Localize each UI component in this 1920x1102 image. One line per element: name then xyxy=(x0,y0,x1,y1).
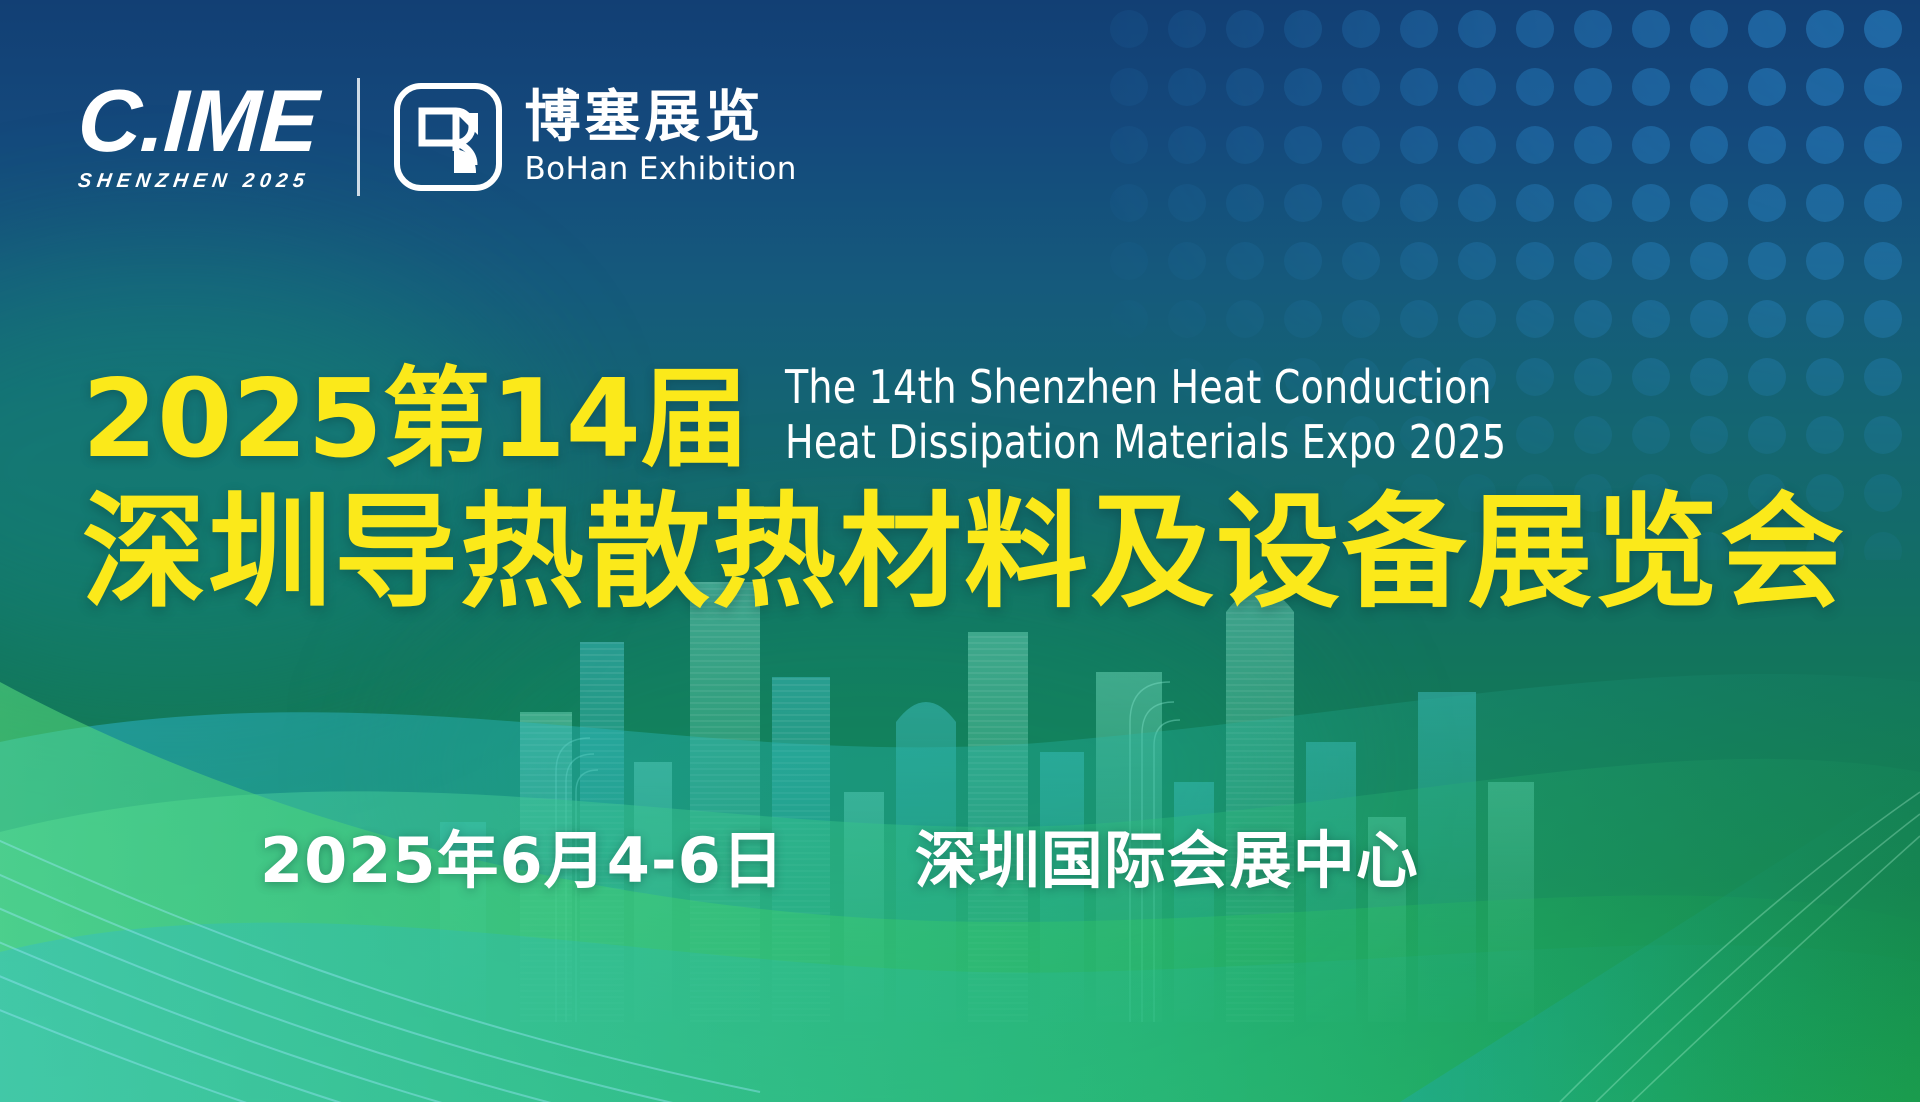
english-title-line2: Heat Dissipation Materials Expo 2025 xyxy=(785,415,1506,470)
logo-bar: C.IME SHENZHEN 2025 博塞展览 BoHan Exhibitio… xyxy=(78,78,797,196)
bohan-chinese-name: 博塞展览 xyxy=(524,90,764,146)
cime-logo[interactable]: C.IME SHENZHEN 2025 xyxy=(78,81,317,193)
event-date: 2025年6月4-6日 xyxy=(260,830,785,892)
event-venue: 深圳国际会展中心 xyxy=(915,830,1419,892)
cime-wordmark: C.IME xyxy=(76,81,320,162)
bohan-english-name: BoHan Exhibition xyxy=(524,154,796,185)
english-title-block: The 14th Shenzhen Heat Conduction Heat D… xyxy=(785,360,1569,474)
footer-info: 2025年6月4-6日 深圳国际会展中心 xyxy=(260,830,1419,892)
logo-divider xyxy=(357,78,360,196)
headline-block: 2025第14届 The 14th Shenzhen Heat Conducti… xyxy=(0,360,1920,619)
english-title-line1: The 14th Shenzhen Heat Conduction xyxy=(785,360,1506,415)
edition-title-cn: 2025第14届 xyxy=(82,366,749,474)
bohan-square-mark-icon xyxy=(394,83,502,191)
headline-row-primary: 2025第14届 The 14th Shenzhen Heat Conducti… xyxy=(0,360,1920,474)
bohan-logo[interactable]: 博塞展览 BoHan Exhibition xyxy=(394,83,796,191)
bohan-text-block: 博塞展览 BoHan Exhibition xyxy=(524,90,796,185)
cime-subtitle: SHENZHEN 2025 xyxy=(76,170,311,193)
main-title-cn: 深圳导热散热材料及设备展览会 xyxy=(0,488,1920,618)
expo-poster: C.IME SHENZHEN 2025 博塞展览 BoHan Exhibitio… xyxy=(0,0,1920,1102)
